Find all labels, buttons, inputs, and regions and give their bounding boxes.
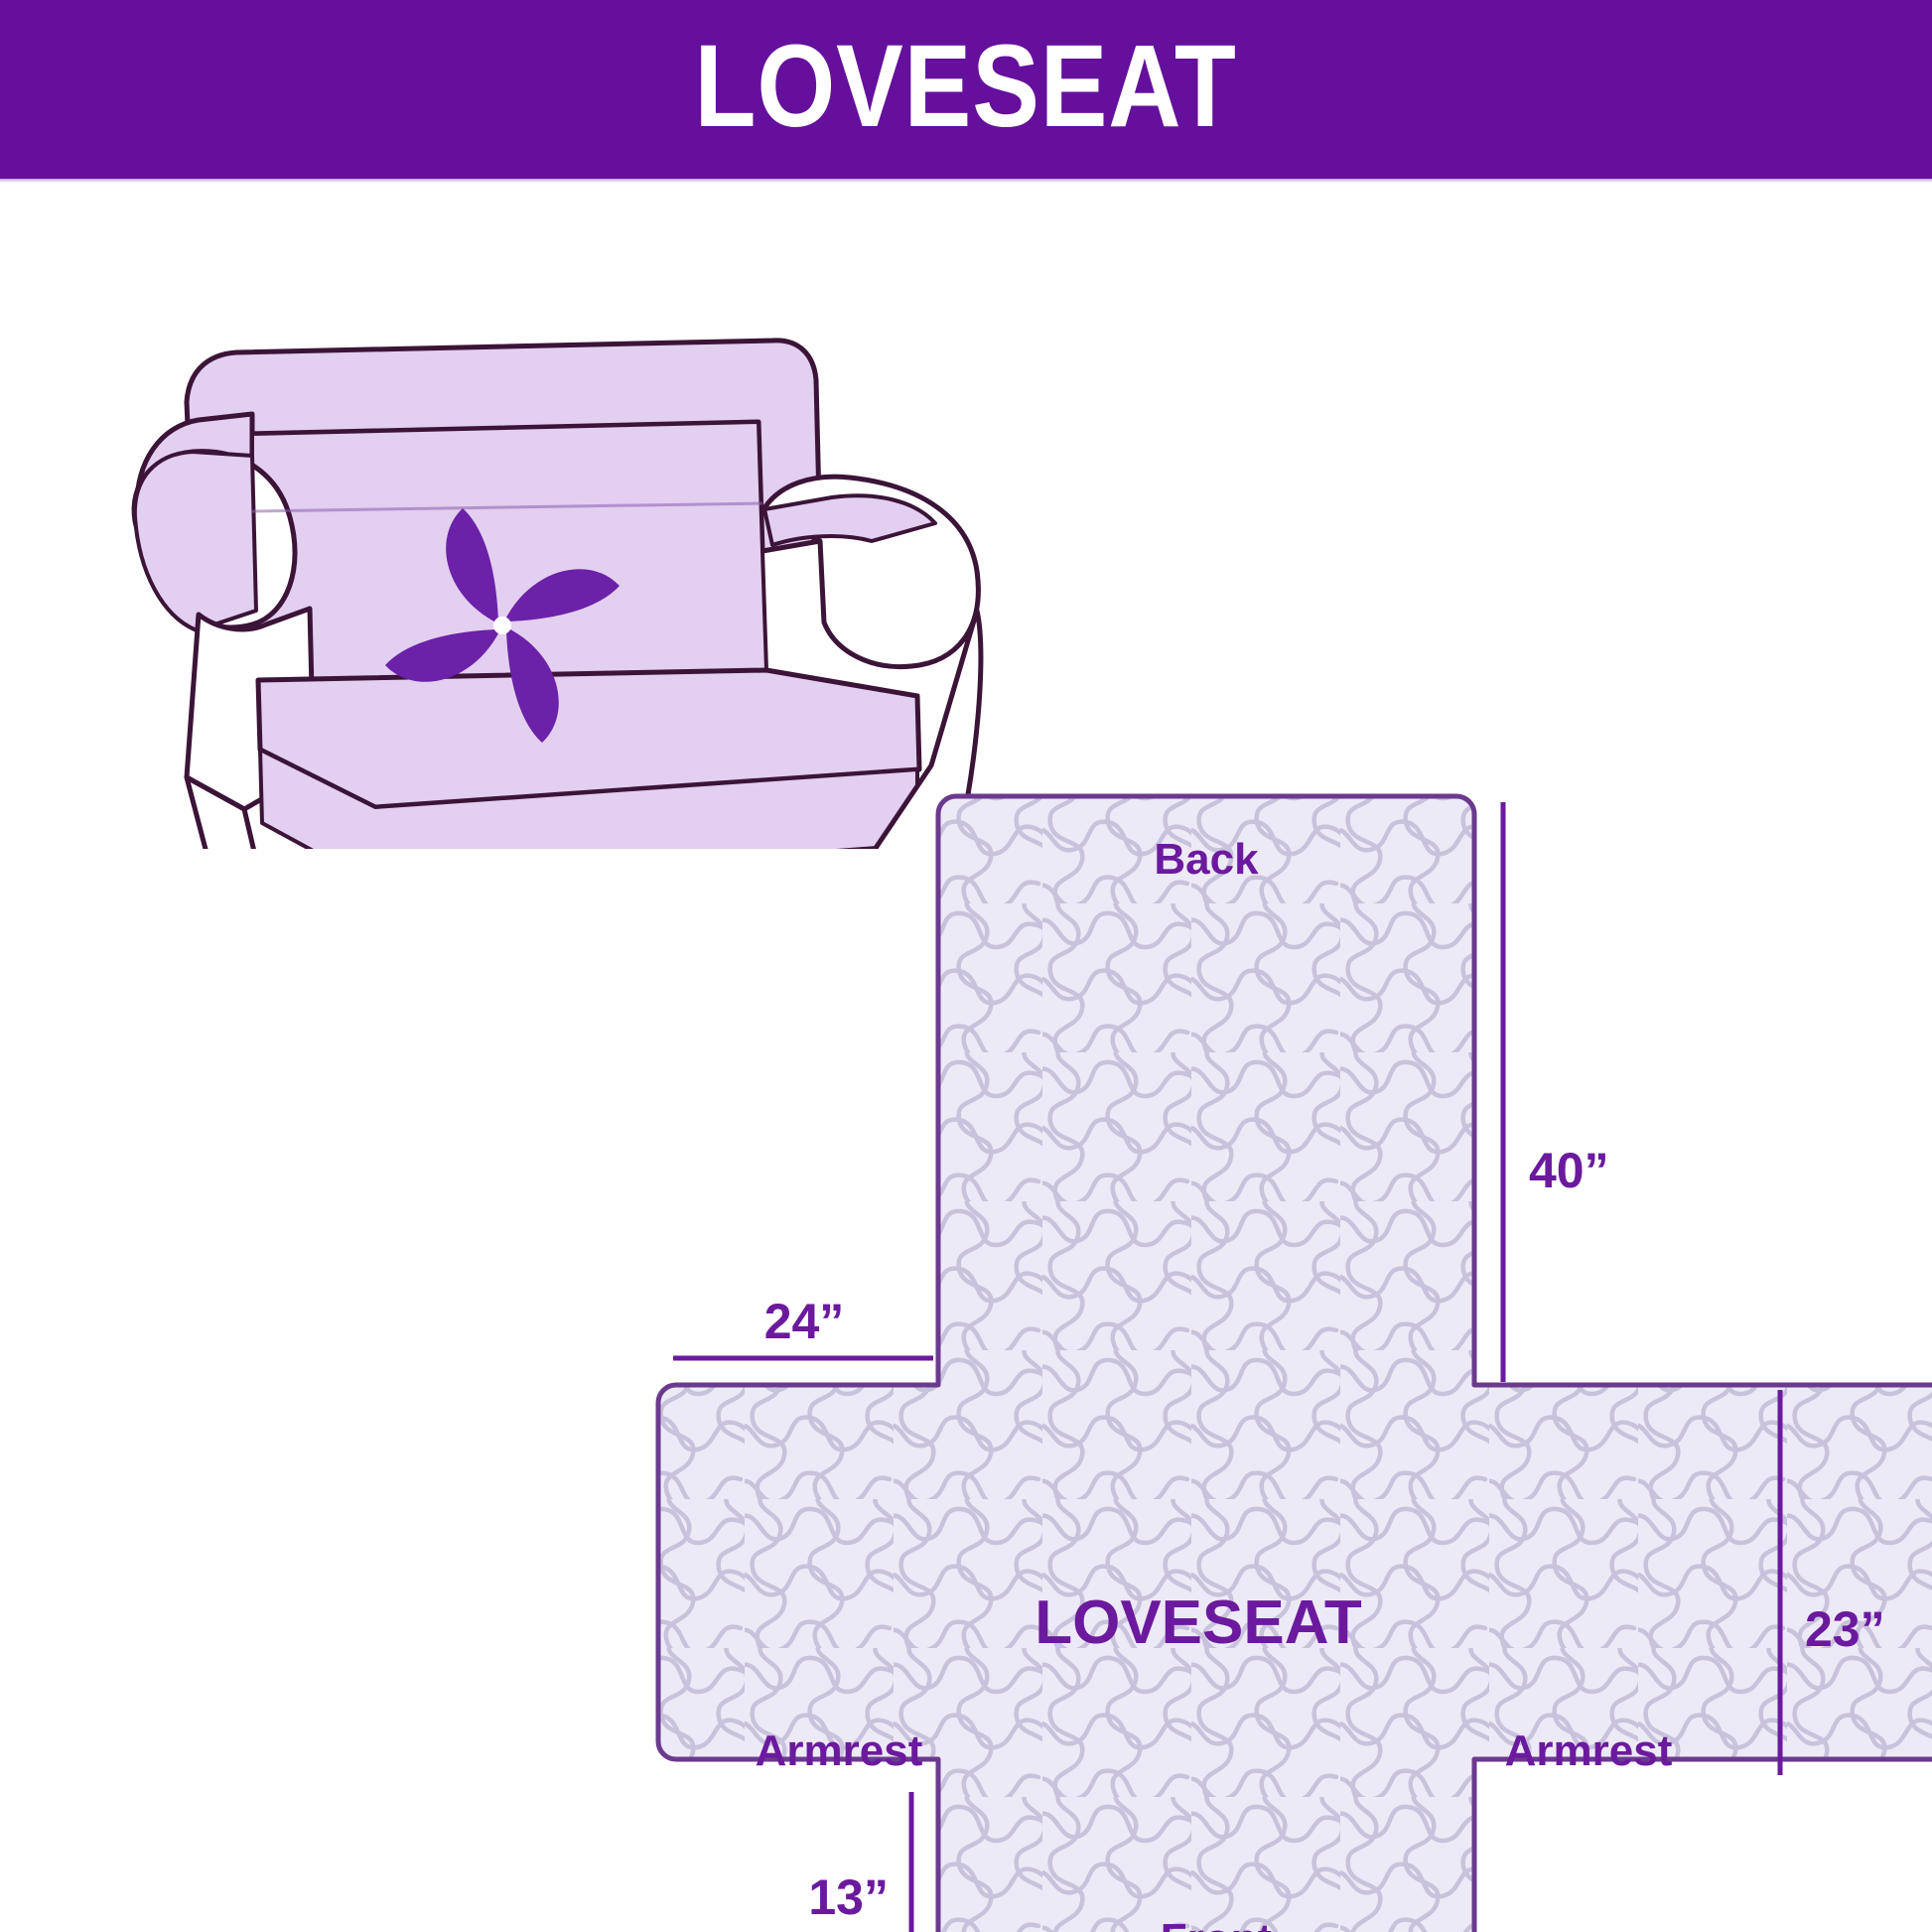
- dimension-label-back-width: 24”: [764, 1294, 845, 1349]
- panel-label-back: Back: [1154, 835, 1259, 884]
- loveseat-sofa-illustration: [77, 213, 1080, 849]
- header-banner: LOVESEAT: [0, 0, 1932, 179]
- panel-label-armrest-right: Armrest: [1505, 1726, 1673, 1775]
- page-title: LOVESEAT: [695, 28, 1237, 145]
- pinwheel-hub: [493, 617, 511, 634]
- banner-bottom-edge: [0, 179, 1932, 183]
- cut-pattern-diagram: Back LOVESEAT Armrest Armrest Front 40” …: [596, 755, 1932, 1932]
- dimension-label-back-height: 40”: [1529, 1143, 1609, 1198]
- panel-label-front: Front: [1161, 1915, 1273, 1932]
- dimension-label-front-height: 13”: [808, 1869, 889, 1925]
- sofa-armrest-left-cover: [135, 452, 256, 630]
- pattern-center-label: LOVESEAT: [1035, 1588, 1362, 1657]
- dimension-label-armrest-depth: 23”: [1805, 1601, 1885, 1657]
- panel-label-armrest-left: Armrest: [756, 1726, 923, 1775]
